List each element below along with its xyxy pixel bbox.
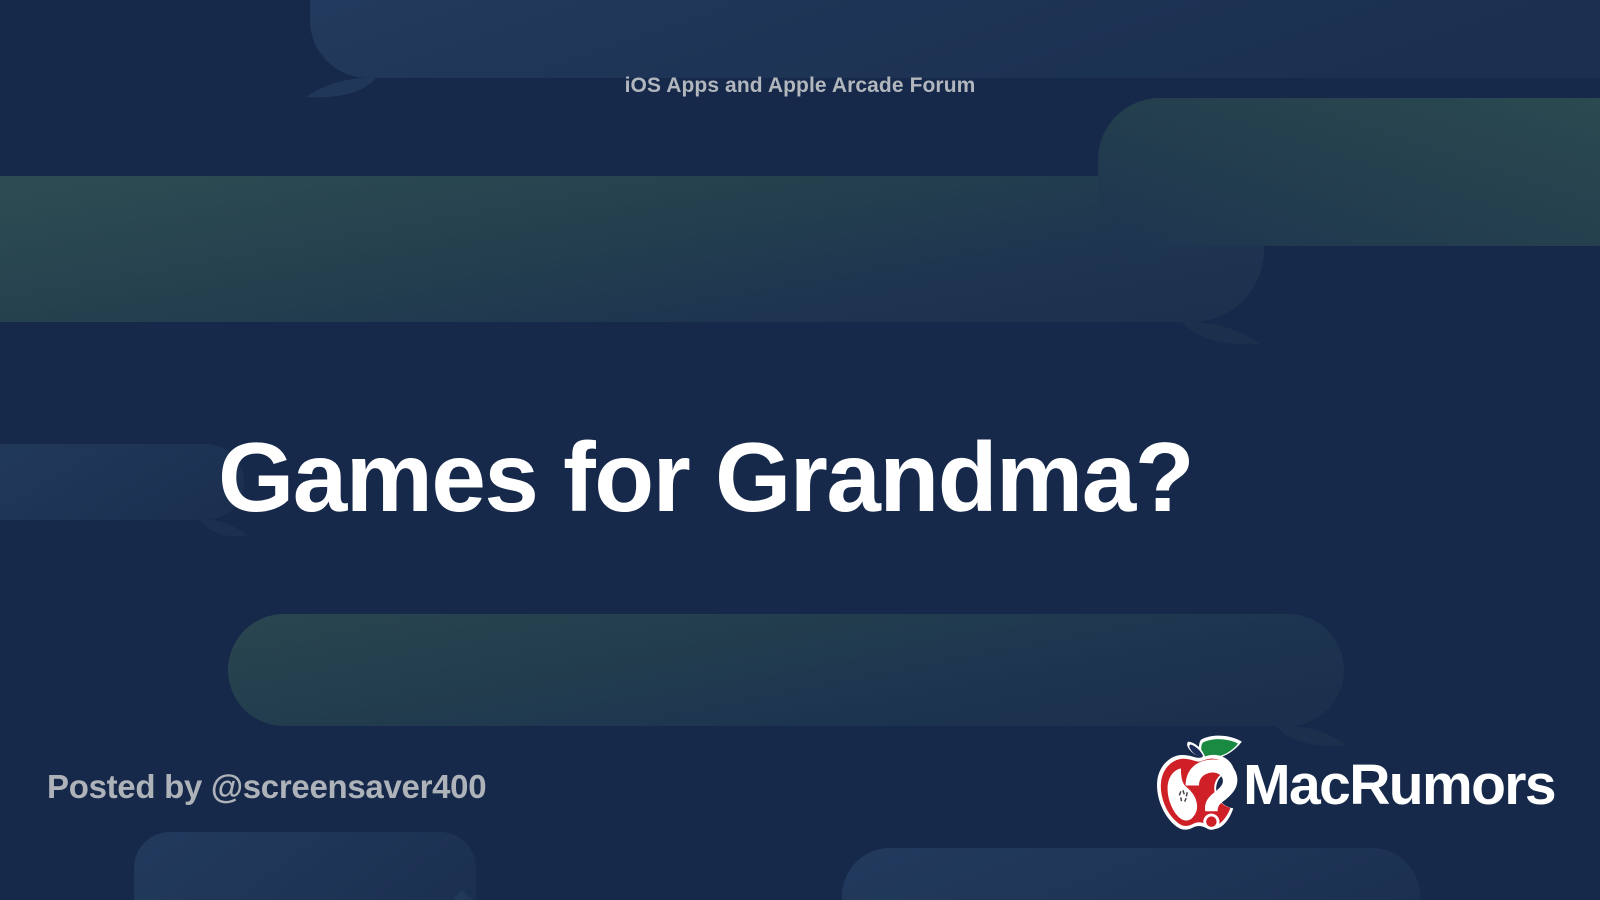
thread-title: Games for Grandma? [218, 418, 1418, 536]
posted-by-label: Posted by @screensaver400 [47, 768, 486, 806]
macrumors-brand: MacRumors [1151, 735, 1555, 835]
macrumors-apple-question-mark-logo [1151, 735, 1247, 835]
card-content: iOS Apps and Apple Arcade Forum Games fo… [0, 0, 1600, 900]
social-share-card: iOS Apps and Apple Arcade Forum Games fo… [0, 0, 1600, 900]
forum-name: iOS Apps and Apple Arcade Forum [0, 74, 1600, 98]
macrumors-wordmark: MacRumors [1243, 757, 1555, 814]
